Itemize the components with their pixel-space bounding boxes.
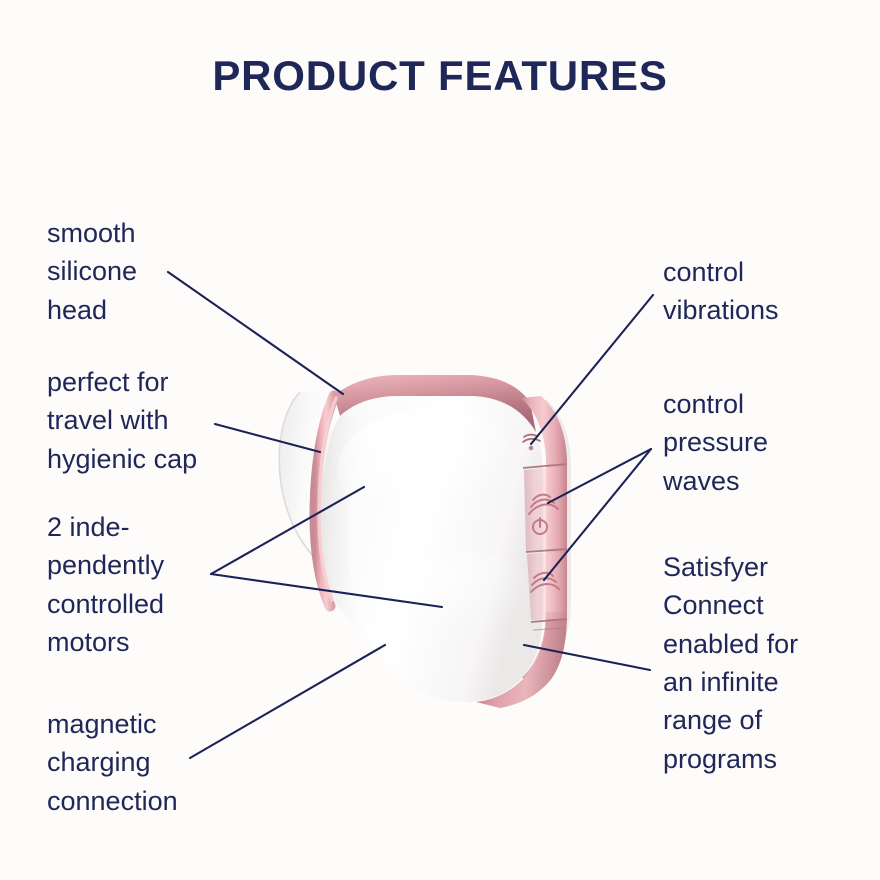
- product-illustration: [0, 0, 880, 880]
- body-front-face: [317, 396, 543, 702]
- pressure-wave-button[interactable]: [527, 551, 567, 620]
- product-features-infographic: PRODUCT FEATURES: [0, 0, 880, 880]
- pressure-wave-power-button[interactable]: [524, 466, 566, 551]
